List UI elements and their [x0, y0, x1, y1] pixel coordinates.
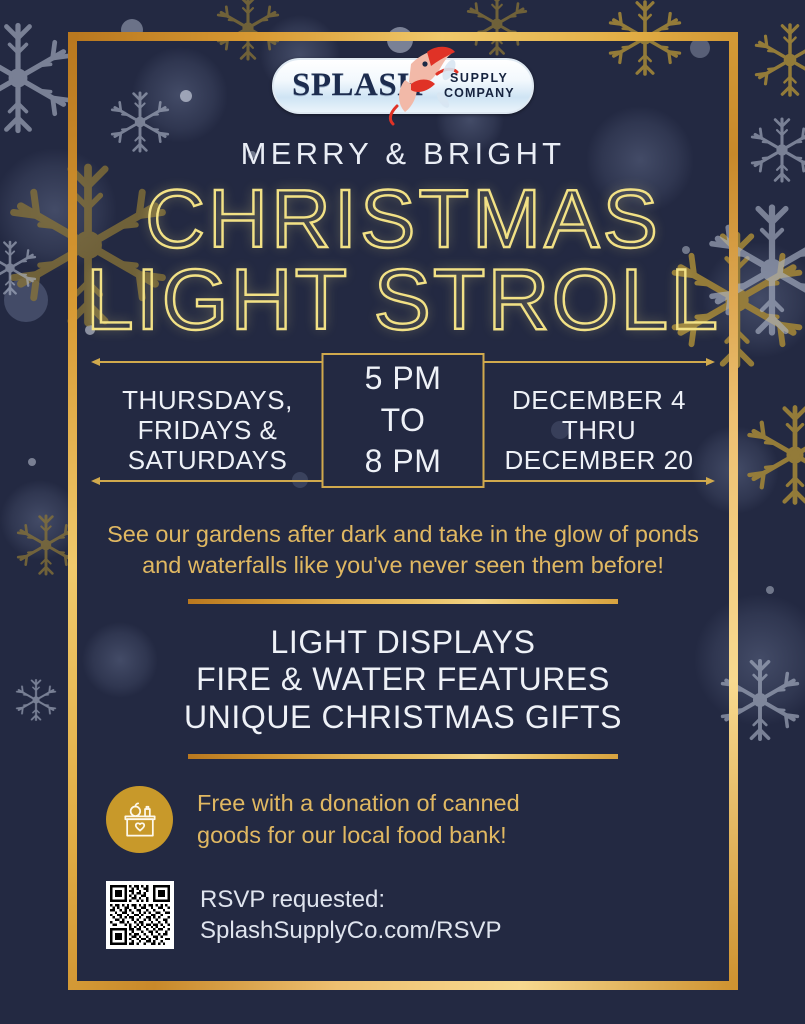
- divider-bottom: [188, 754, 618, 759]
- logo-company-text: COMPANY: [444, 86, 515, 100]
- donation-text: Free with a donation of canned goods for…: [197, 788, 520, 850]
- company-logo: SPLASH SUPPLY COMPANY: [272, 58, 534, 114]
- schedule-days-line-2: FRIDAYS &: [95, 415, 320, 445]
- schedule-date-connector: THRU: [483, 415, 715, 445]
- feature-item-3: UNIQUE CHRISTMAS GIFTS: [77, 699, 729, 736]
- qr-code[interactable]: [106, 881, 174, 949]
- schedule-time-box: 5 PM TO 8 PM: [322, 353, 485, 488]
- event-description: See our gardens after dark and take in t…: [81, 519, 725, 582]
- feature-item-2: FIRE & WATER FEATURES: [77, 661, 729, 698]
- schedule-date-end: DECEMBER 20: [483, 445, 715, 475]
- schedule-time-separator: TO: [324, 400, 483, 442]
- schedule-time-start: 5 PM: [324, 358, 483, 400]
- page-title: CHRISTMAS LIGHT STROLL: [77, 179, 729, 341]
- schedule-date-start: DECEMBER 4: [483, 385, 715, 415]
- title-line-1: CHRISTMAS: [77, 179, 729, 259]
- donation-line-2: goods for our local food bank!: [197, 820, 520, 851]
- rsvp-section: RSVP requested: SplashSupplyCo.com/RSVP: [106, 881, 501, 949]
- schedule-dates: DECEMBER 4 THRU DECEMBER 20: [483, 385, 715, 475]
- description-line-1: See our gardens after dark and take in t…: [81, 519, 725, 550]
- schedule-time-end: 8 PM: [324, 441, 483, 483]
- feature-item-1: LIGHT DISPLAYS: [77, 624, 729, 661]
- features-section: LIGHT DISPLAYS FIRE & WATER FEATURES UNI…: [77, 599, 729, 759]
- title-line-2: LIGHT STROLL: [77, 259, 729, 342]
- rsvp-line-1: RSVP requested:: [200, 884, 501, 915]
- donation-notice: Free with a donation of canned goods for…: [106, 786, 520, 853]
- food-donation-box-icon: [106, 786, 173, 853]
- schedule-days-line-3: SATURDAYS: [95, 445, 320, 475]
- features-list: LIGHT DISPLAYS FIRE & WATER FEATURES UNI…: [77, 604, 729, 754]
- eyebrow-text: MERRY & BRIGHT: [77, 136, 729, 172]
- schedule-days-line-1: THURSDAYS,: [95, 385, 320, 415]
- rsvp-text: RSVP requested: SplashSupplyCo.com/RSVP: [200, 884, 501, 946]
- event-flyer: SPLASH SUPPLY COMPANY MERRY & BRIGHT CHR…: [0, 0, 805, 1024]
- description-line-2: and waterfalls like you've never seen th…: [81, 550, 725, 581]
- donation-line-1: Free with a donation of canned: [197, 788, 520, 819]
- schedule-days: THURSDAYS, FRIDAYS & SATURDAYS: [95, 385, 320, 475]
- logo-supply-text: SUPPLY: [450, 71, 508, 85]
- rsvp-url[interactable]: SplashSupplyCo.com/RSVP: [200, 915, 501, 946]
- schedule-band: THURSDAYS, FRIDAYS & SATURDAYS 5 PM TO 8…: [77, 347, 729, 497]
